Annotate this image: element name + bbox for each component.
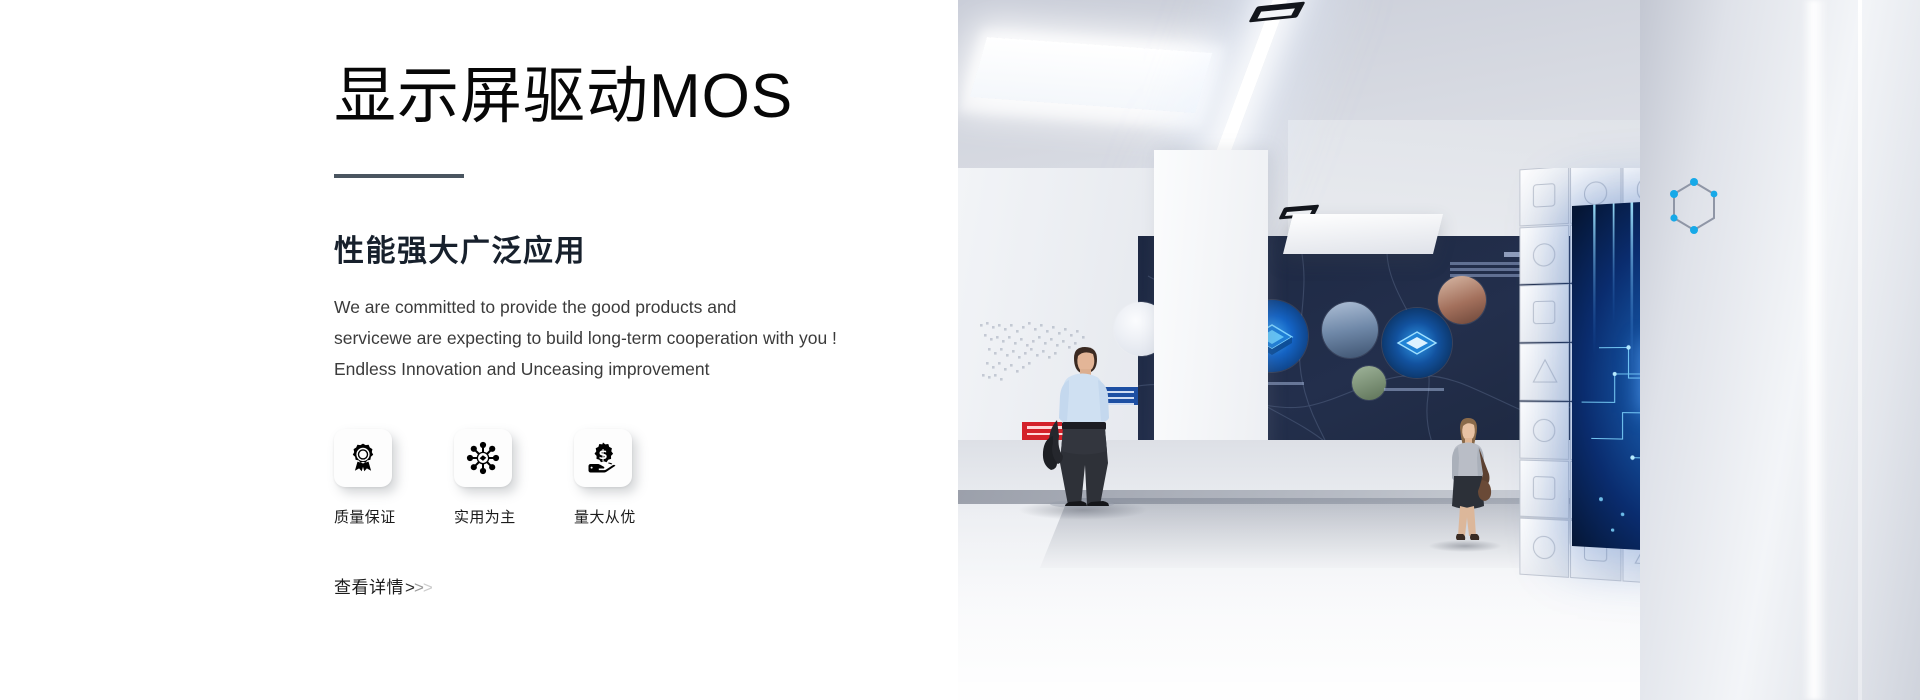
- feature-label: 量大从优: [574, 506, 694, 527]
- banner-description: We are committed to provide the good pro…: [334, 292, 958, 385]
- wall-light-glow: [1802, 0, 1828, 700]
- feature-list: 质量保证: [334, 429, 958, 527]
- banner-text-panel: 显示屏驱动MOS 性能强大广泛应用 We are committed to pr…: [0, 0, 958, 700]
- page-title: 显示屏驱动MOS: [334, 62, 958, 131]
- feature-item-practical[interactable]: 实用为主: [454, 429, 574, 527]
- exhibit-medallion-photo: [1352, 366, 1386, 400]
- hand-money-icon: $: [586, 441, 620, 475]
- hexagon-molecule-icon: [1664, 176, 1724, 242]
- right-wall: [1640, 0, 1920, 700]
- feature-label: 质量保证: [334, 506, 454, 527]
- svg-text:$: $: [598, 449, 607, 464]
- chevron-right-icon-2: >: [414, 578, 423, 597]
- feature-label: 实用为主: [454, 506, 574, 527]
- description-line-2: servicewe are expecting to build long-te…: [334, 323, 958, 354]
- view-details-link[interactable]: 查看详情 >>>: [334, 573, 432, 598]
- title-divider: [334, 174, 464, 178]
- feature-item-quality[interactable]: 质量保证: [334, 429, 454, 527]
- exhibit-medallion-photo: [1322, 302, 1378, 358]
- wall-corner-edge: [1858, 0, 1862, 700]
- feature-icon-card: [454, 429, 512, 487]
- chevron-right-icon-3: >: [423, 578, 432, 597]
- feature-item-bulk-discount[interactable]: $ 量大从优: [574, 429, 694, 527]
- chevron-right-icon-1: >: [405, 578, 414, 597]
- exhibit-medallion-chip: [1382, 308, 1452, 378]
- chevron-arrows: >>>: [405, 578, 432, 598]
- hero-banner: 显示屏驱动MOS 性能强大广泛应用 We are committed to pr…: [0, 0, 1920, 700]
- showroom-photo: 5947 C18A 创和 电子: [958, 0, 1920, 700]
- award-ribbon-icon: [346, 441, 380, 475]
- description-line-3: Endless Innovation and Unceasing improve…: [334, 354, 958, 385]
- ceiling-baffle: [1283, 214, 1443, 254]
- description-line-1: We are committed to provide the good pro…: [334, 292, 958, 323]
- person-businessman: [1022, 336, 1142, 508]
- glowing-chip-graphic: [1382, 308, 1452, 378]
- exhibit-medallion-photo: [1438, 276, 1486, 324]
- person-businesswoman: [1432, 414, 1502, 546]
- view-details-label: 查看详情: [334, 573, 404, 598]
- network-hub-icon: [466, 441, 500, 475]
- feature-icon-card: [334, 429, 392, 487]
- feature-icon-card: $: [574, 429, 632, 487]
- exhibit-caption: [1384, 388, 1444, 391]
- banner-subtitle: 性能强大广泛应用: [334, 226, 958, 270]
